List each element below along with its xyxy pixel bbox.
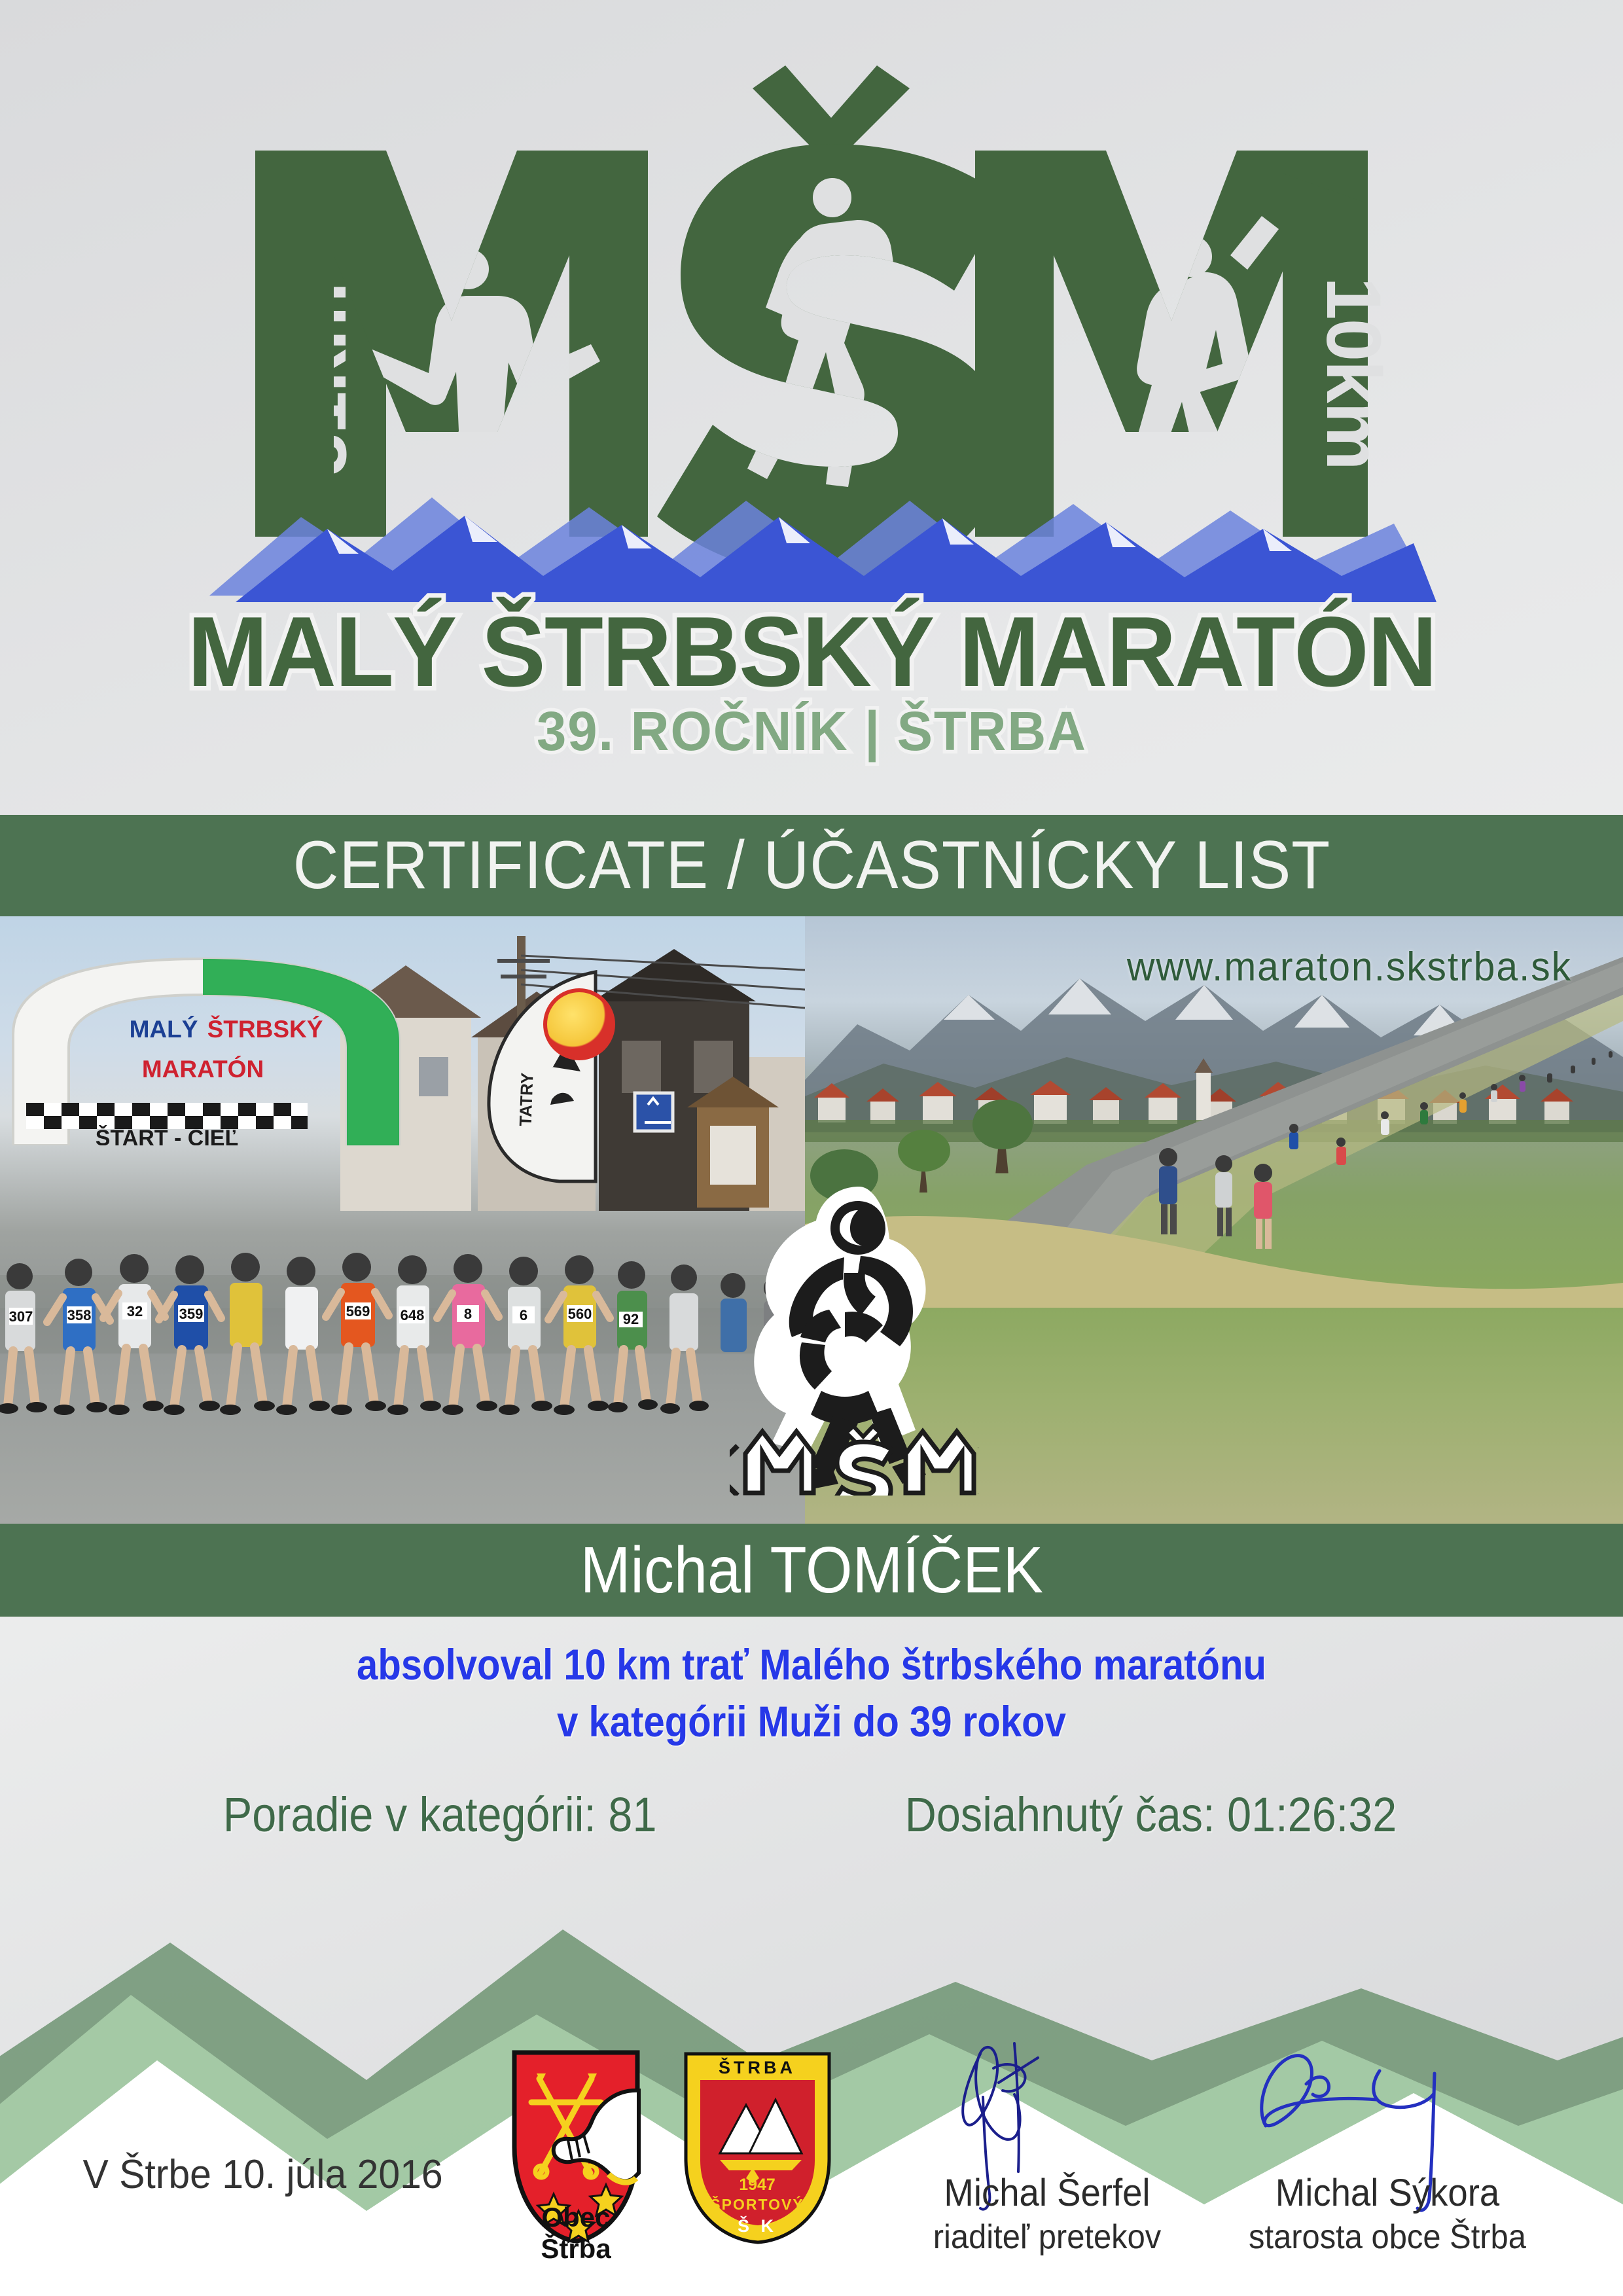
svg-text:307: 307	[9, 1308, 33, 1325]
detail-line-1: absolvoval 10 km trať Malého štrbského m…	[98, 1636, 1525, 1693]
signature-block-mayor: Michal Sýkora starosta obce Štrba	[1185, 2171, 1590, 2257]
participant-detail-block: absolvoval 10 km trať Malého štrbského m…	[0, 1636, 1623, 1750]
website-url: www.maraton.skstrba.sk	[1127, 944, 1572, 990]
svg-text:648: 648	[401, 1307, 425, 1323]
svg-text:ŠTRBA: ŠTRBA	[719, 2057, 796, 2077]
issue-date: V Štrbe 10. júla 2016	[82, 2151, 442, 2198]
svg-text:ŠTART - CIEĽ: ŠTART - CIEĽ	[96, 1125, 238, 1145]
certificate-band: CERTIFICATE / ÚČASTNÍCKY LIST	[0, 815, 1623, 916]
signature-role: riaditeľ pretekov	[857, 2217, 1238, 2257]
certificate-band-label: CERTIFICATE / ÚČASTNÍCKY LIST	[293, 827, 1330, 905]
badge-10km: 10km	[1283, 173, 1397, 537]
svg-text:32: 32	[127, 1303, 143, 1319]
signature-name: Michal Šerfel	[857, 2171, 1238, 2215]
crest-label: Obec Štrba	[507, 2202, 645, 2265]
svg-text:MALÝ: MALÝ	[130, 1016, 198, 1043]
svg-text:8: 8	[464, 1306, 472, 1322]
participant-name-band: Michal TOMÍČEK	[0, 1524, 1623, 1617]
achieved-time: Dosiahnutý čas: 01:26:32	[904, 1787, 1397, 1842]
logo-header: 31km	[0, 0, 1623, 815]
msm-runner-overlay-icon	[730, 1175, 978, 1496]
event-subtitle-row: 39. ROČNÍK | ŠTRBA	[0, 704, 1623, 759]
logo-letter-s-middle	[657, 65, 1007, 579]
logo-letter-m-left	[255, 151, 648, 537]
svg-text:TATRY: TATRY	[516, 1072, 537, 1126]
inflatable-start-arch: MALÝ ŠTRBSKÝ MARATÓN ŠTART - CIEĽ	[7, 956, 465, 1145]
certificate-page: 31km	[0, 0, 1623, 2296]
svg-text:MARATÓN: MARATÓN	[142, 1055, 264, 1083]
participant-name: Michal TOMÍČEK	[580, 1533, 1043, 1608]
runners-crowd: 307 358 32 359 569 648 8 6 560 92	[0, 1229, 805, 1445]
photo-start-line: MALÝ ŠTRBSKÝ MARATÓN ŠTART - CIEĽ	[0, 916, 805, 1524]
detail-line-2: v kategórii Muži do 39 rokov	[98, 1693, 1525, 1750]
event-title: MALÝ ŠTRBSKÝ MARATÓN	[187, 602, 1436, 702]
signature-role: starosta obce Štrba	[1197, 2217, 1578, 2257]
svg-text:560: 560	[568, 1306, 592, 1322]
svg-text:Š K: Š K	[738, 2215, 777, 2236]
svg-text:569: 569	[346, 1303, 370, 1319]
club-badge-small	[543, 988, 615, 1060]
event-subtitle: 39. ROČNÍK | ŠTRBA	[537, 704, 1087, 759]
result-row: Poradie v kategórii: 81 Dosiahnutý čas: …	[0, 1787, 1623, 1842]
event-title-row: MALÝ ŠTRBSKÝ MARATÓN	[0, 602, 1623, 702]
sk-strba-club-logo-icon: ŠTRBA 1947 ŠPORTOVÝ Š K	[681, 2049, 834, 2245]
svg-text:358: 358	[67, 1307, 92, 1323]
svg-text:ŠPORTOVÝ: ŠPORTOVÝ	[710, 2195, 804, 2213]
svg-text:6: 6	[520, 1307, 527, 1323]
svg-text:10km: 10km	[1310, 277, 1397, 469]
svg-text:ŠTRBSKÝ: ŠTRBSKÝ	[207, 1015, 323, 1043]
signature-name: Michal Sýkora	[1197, 2171, 1578, 2215]
footer: V Štrbe 10. júla 2016	[0, 2021, 1623, 2296]
svg-text:92: 92	[623, 1311, 639, 1327]
svg-text:359: 359	[179, 1306, 204, 1322]
category-rank: Poradie v kategórii: 81	[223, 1787, 657, 1842]
